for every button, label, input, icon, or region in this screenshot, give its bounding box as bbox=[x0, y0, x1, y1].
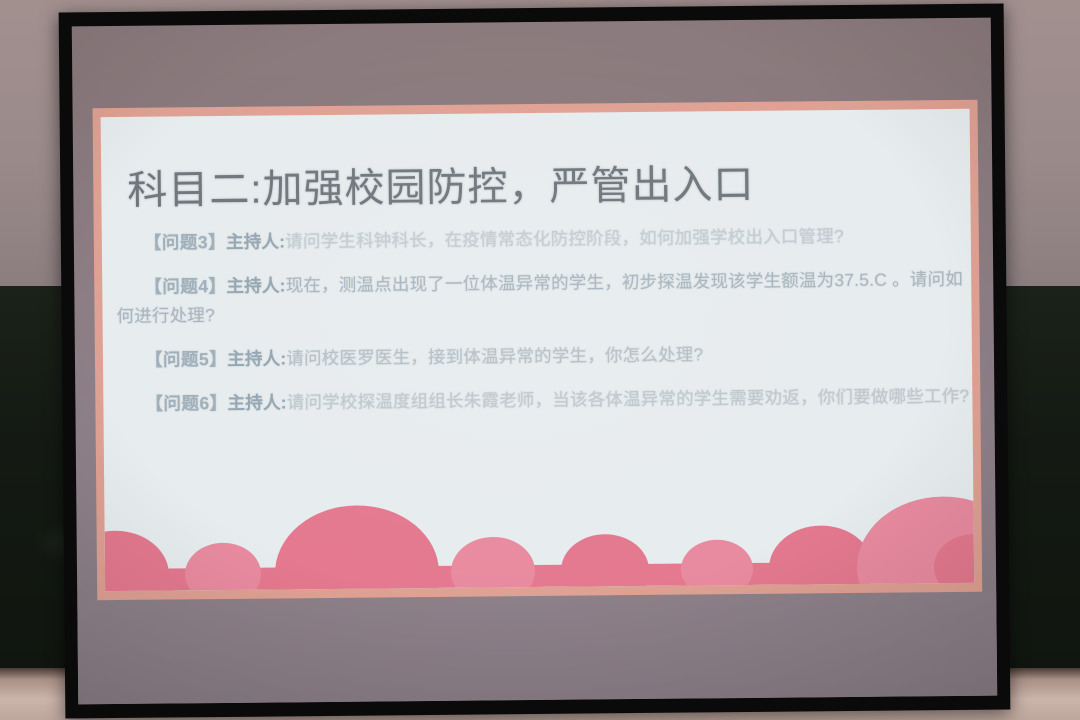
question-item: 【问题5】主持人:请问校医罗医生，接到体温异常的学生，你怎么处理? bbox=[117, 338, 969, 375]
scallop-arc bbox=[934, 534, 974, 592]
scalloped-border-decoration bbox=[104, 493, 974, 591]
question-text: 请问学校探温度组组长朱霞老师，当该各体温异常的学生需要劝返，你们要做哪些工作? bbox=[287, 386, 970, 413]
scallop-arc bbox=[561, 534, 650, 591]
slide-title: 科目二:加强校园防控，严管出入口 bbox=[127, 163, 755, 213]
question-role: 主持人: bbox=[226, 231, 285, 252]
slide-question-list: 【问题3】主持人:请问学生科钟科长，在疫情常态化防控阶段，如何加强学校出入口管理… bbox=[116, 221, 970, 435]
question-role: 主持人: bbox=[228, 393, 287, 414]
presentation-slide: 科目二:加强校园防控，严管出入口 【问题3】主持人:请问学生科钟科长，在疫情常态… bbox=[93, 100, 983, 600]
question-item: 【问题4】主持人:现在，测温点出现了一位体温异常的学生，初步探温发现该学生额温为… bbox=[116, 265, 969, 330]
question-role: 主持人: bbox=[227, 348, 286, 369]
question-item: 【问题3】主持人:请问学生科钟科长，在疫情常态化防控阶段，如何加强学校出入口管理… bbox=[116, 221, 968, 258]
scallop-arc bbox=[104, 530, 169, 591]
question-tag: 【问题6】 bbox=[145, 393, 227, 414]
scallop-arc bbox=[451, 537, 536, 592]
scallop-arc bbox=[185, 542, 262, 591]
question-text: 请问校医罗医生，接到体温异常的学生，你怎么处理? bbox=[286, 344, 703, 368]
question-tag: 【问题5】 bbox=[145, 349, 227, 370]
question-role: 主持人: bbox=[226, 276, 285, 297]
scallop-arc bbox=[274, 505, 439, 591]
question-tag: 【问题3】 bbox=[144, 232, 226, 253]
screen-surface: 科目二:加强校园防控，严管出入口 【问题3】主持人:请问学生科钟科长，在疫情常态… bbox=[72, 18, 997, 705]
scallop-arc bbox=[681, 539, 754, 591]
screen-lower-blank-area bbox=[77, 592, 997, 705]
question-text: 请问学生科钟科长，在疫情常态化防控阶段，如何加强学校出入口管理? bbox=[285, 226, 844, 251]
scallop-arc bbox=[769, 525, 874, 591]
slide-content-area: 科目二:加强校园防控，严管出入口 【问题3】主持人:请问学生科钟科长，在疫情常态… bbox=[101, 109, 975, 591]
projector-screen: 科目二:加强校园防控，严管出入口 【问题3】主持人:请问学生科钟科长，在疫情常态… bbox=[59, 3, 1011, 718]
question-item: 【问题6】主持人:请问学校探温度组组长朱霞老师，当该各体温异常的学生需要劝返，你… bbox=[117, 382, 969, 419]
question-tag: 【问题4】 bbox=[144, 276, 226, 297]
scallop-arc bbox=[856, 496, 974, 591]
